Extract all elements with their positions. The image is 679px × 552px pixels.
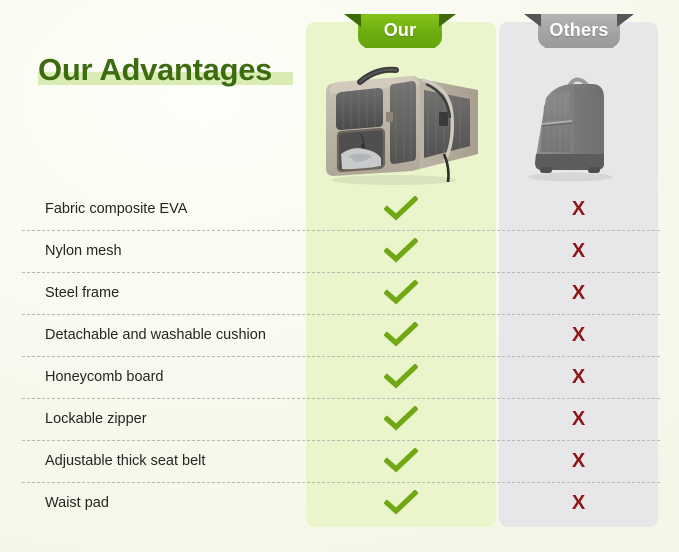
competitor-backpack-carrier-illustration xyxy=(512,54,646,190)
feature-label: Waist pad xyxy=(45,482,109,524)
cell-our-check xyxy=(306,188,496,230)
column-header-our-label: Our xyxy=(344,14,456,48)
cell-our-check xyxy=(306,440,496,482)
cross-x-icon: X xyxy=(572,283,585,303)
cross-x-icon: X xyxy=(572,493,585,513)
cell-others-cross: X xyxy=(499,398,658,440)
feature-label: Detachable and washable cushion xyxy=(45,314,266,356)
cell-others-cross: X xyxy=(499,230,658,272)
check-icon xyxy=(384,406,418,432)
pet-carrier-bag-illustration xyxy=(308,50,494,190)
cell-others-cross: X xyxy=(499,440,658,482)
cross-x-icon: X xyxy=(572,409,585,429)
product-image-others xyxy=(512,54,646,190)
column-header-our: Our xyxy=(344,14,456,48)
product-image-our xyxy=(308,50,494,190)
page-title: Our Advantages xyxy=(38,52,272,88)
feature-label: Fabric composite EVA xyxy=(45,188,187,230)
feature-label: Steel frame xyxy=(45,272,119,314)
check-icon xyxy=(384,238,418,264)
check-icon xyxy=(384,322,418,348)
cross-x-icon: X xyxy=(572,325,585,345)
feature-rows: Fabric composite EVAXNylon meshXSteel fr… xyxy=(0,188,679,524)
cell-our-check xyxy=(306,482,496,524)
check-icon xyxy=(384,448,418,474)
table-row: Detachable and washable cushionX xyxy=(0,314,679,356)
check-icon xyxy=(384,196,418,222)
column-header-others: Others xyxy=(524,14,634,48)
table-row: Waist padX xyxy=(0,482,679,524)
feature-label: Lockable zipper xyxy=(45,398,147,440)
cell-others-cross: X xyxy=(499,188,658,230)
check-icon xyxy=(384,490,418,516)
cross-x-icon: X xyxy=(572,451,585,471)
cross-x-icon: X xyxy=(572,367,585,387)
cell-our-check xyxy=(306,356,496,398)
table-row: Nylon meshX xyxy=(0,230,679,272)
table-row: Honeycomb boardX xyxy=(0,356,679,398)
cell-others-cross: X xyxy=(499,272,658,314)
column-header-others-label: Others xyxy=(524,14,634,48)
title-text: Our Advantages xyxy=(38,52,272,88)
table-row: Lockable zipperX xyxy=(0,398,679,440)
cell-others-cross: X xyxy=(499,314,658,356)
feature-label: Nylon mesh xyxy=(45,230,122,272)
comparison-chart: Our Advantages xyxy=(0,0,679,552)
cross-x-icon: X xyxy=(572,199,585,219)
table-row: Fabric composite EVAX xyxy=(0,188,679,230)
cell-our-check xyxy=(306,272,496,314)
table-row: Adjustable thick seat beltX xyxy=(0,440,679,482)
cell-our-check xyxy=(306,230,496,272)
check-icon xyxy=(384,280,418,306)
cell-our-check xyxy=(306,314,496,356)
feature-label: Adjustable thick seat belt xyxy=(45,440,205,482)
cell-others-cross: X xyxy=(499,482,658,524)
cell-others-cross: X xyxy=(499,356,658,398)
cross-x-icon: X xyxy=(572,241,585,261)
cell-our-check xyxy=(306,398,496,440)
feature-label: Honeycomb board xyxy=(45,356,164,398)
check-icon xyxy=(384,364,418,390)
table-row: Steel frameX xyxy=(0,272,679,314)
